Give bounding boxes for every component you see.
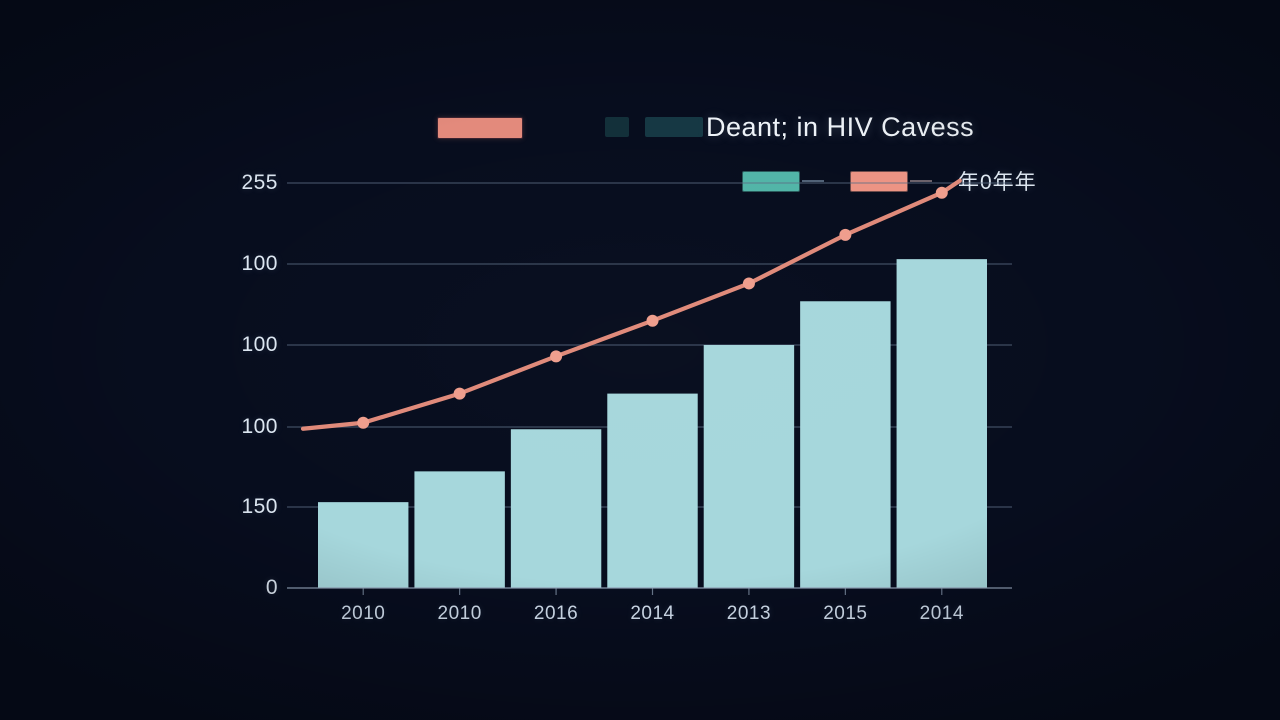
bar [511,429,601,588]
x-axis-tick-label: 2010 [405,603,515,625]
y-axis-tick-label: 255 [218,171,278,195]
x-axis-tick-label: 2014 [598,603,708,625]
y-axis-tick-label: 150 [218,495,278,519]
line-marker [743,277,755,289]
chart-canvas: Deant; in HIV Cavess 年0年年 25510010010015… [0,0,1280,720]
bar [607,394,697,588]
x-axis-tick-label: 2013 [694,603,804,625]
bar [318,502,408,588]
x-axis-tick-label: 2016 [501,603,611,625]
bar [414,471,504,588]
bar [897,259,987,588]
line-marker [550,350,562,362]
y-axis-tick-label: 100 [218,333,278,357]
bar-series [318,259,987,588]
y-axis-tick-label: 100 [218,415,278,439]
line-marker [936,187,948,199]
axis-lines [287,588,1012,595]
bar [800,301,890,588]
y-axis-tick-label: 100 [218,252,278,276]
x-axis-tick-label: 2014 [887,603,997,625]
line-marker [357,417,369,429]
x-axis-tick-label: 2010 [308,603,418,625]
line-marker [839,229,851,241]
line-marker [647,315,659,327]
bar [704,345,794,588]
y-axis-tick-label: 0 [218,576,278,600]
line-marker [454,388,466,400]
x-axis-tick-label: 2015 [790,603,900,625]
